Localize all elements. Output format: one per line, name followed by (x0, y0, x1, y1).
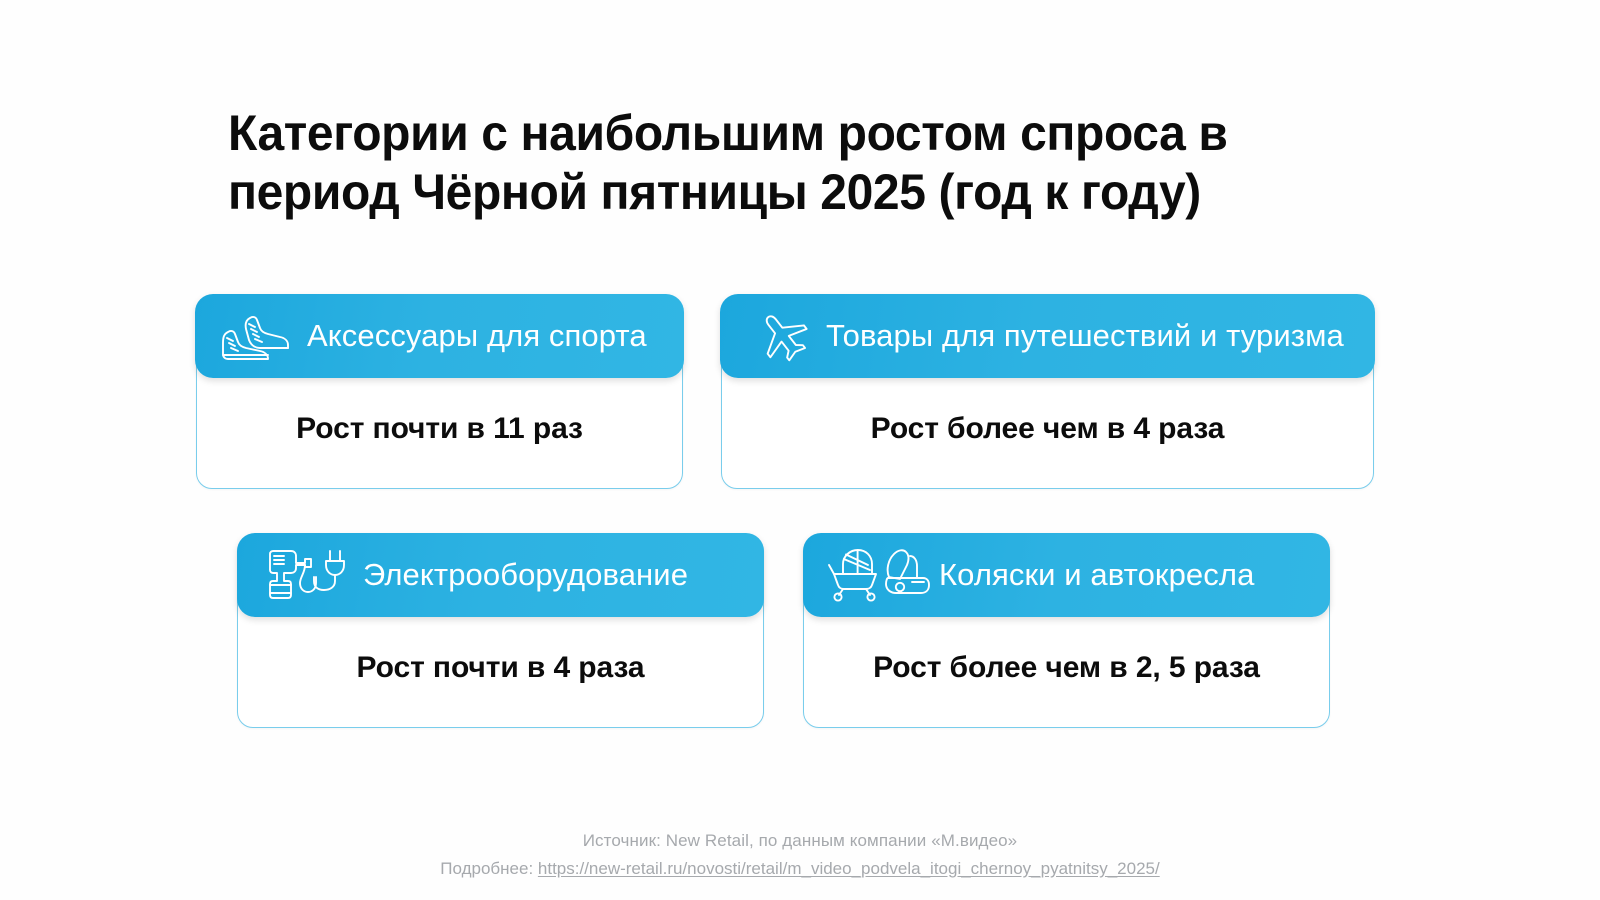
infographic-slide: Категории с наибольшим ростом спроса в п… (0, 0, 1600, 900)
card-value: Рост почти в 4 раза (237, 651, 764, 685)
footer-more-line: Подробнее: https://new-retail.ru/novosti… (0, 856, 1600, 882)
card-title: Электрооборудование (363, 557, 688, 593)
drill-plug-icon (257, 547, 363, 603)
category-card-electric[interactable]: Электрооборудование Рост почти в 4 раза (237, 536, 764, 728)
source-link[interactable]: https://new-retail.ru/novosti/retail/m_v… (538, 859, 1160, 878)
card-title: Аксессуары для спорта (307, 318, 647, 354)
card-value: Рост более чем в 2, 5 раза (803, 651, 1330, 685)
card-value: Рост почти в 11 раз (196, 412, 683, 446)
card-title: Товары для путешествий и туризма (826, 318, 1344, 354)
stroller-carseat-icon (819, 547, 939, 603)
card-title: Коляски и автокресла (939, 557, 1254, 593)
card-value: Рост более чем в 4 раза (721, 412, 1374, 446)
airplane-icon (740, 309, 826, 363)
card-header: Аксессуары для спорта (195, 294, 684, 378)
card-header: Коляски и автокресла (803, 533, 1330, 617)
footer-more-label: Подробнее: (440, 859, 538, 878)
page-title: Категории с наибольшим ростом спроса в п… (228, 104, 1313, 222)
category-card-strollers[interactable]: Коляски и автокресла Рост более чем в 2,… (803, 536, 1330, 728)
category-card-travel[interactable]: Товары для путешествий и туризма Рост бо… (721, 297, 1374, 489)
card-header: Товары для путешествий и туризма (720, 294, 1375, 378)
category-card-sport[interactable]: Аксессуары для спорта Рост почти в 11 ра… (196, 297, 683, 489)
footer-source-text: Источник: New Retail, по данным компании… (0, 828, 1600, 854)
footer: Источник: New Retail, по данным компании… (0, 828, 1600, 881)
sneakers-icon (211, 311, 307, 361)
card-header: Электрооборудование (237, 533, 764, 617)
